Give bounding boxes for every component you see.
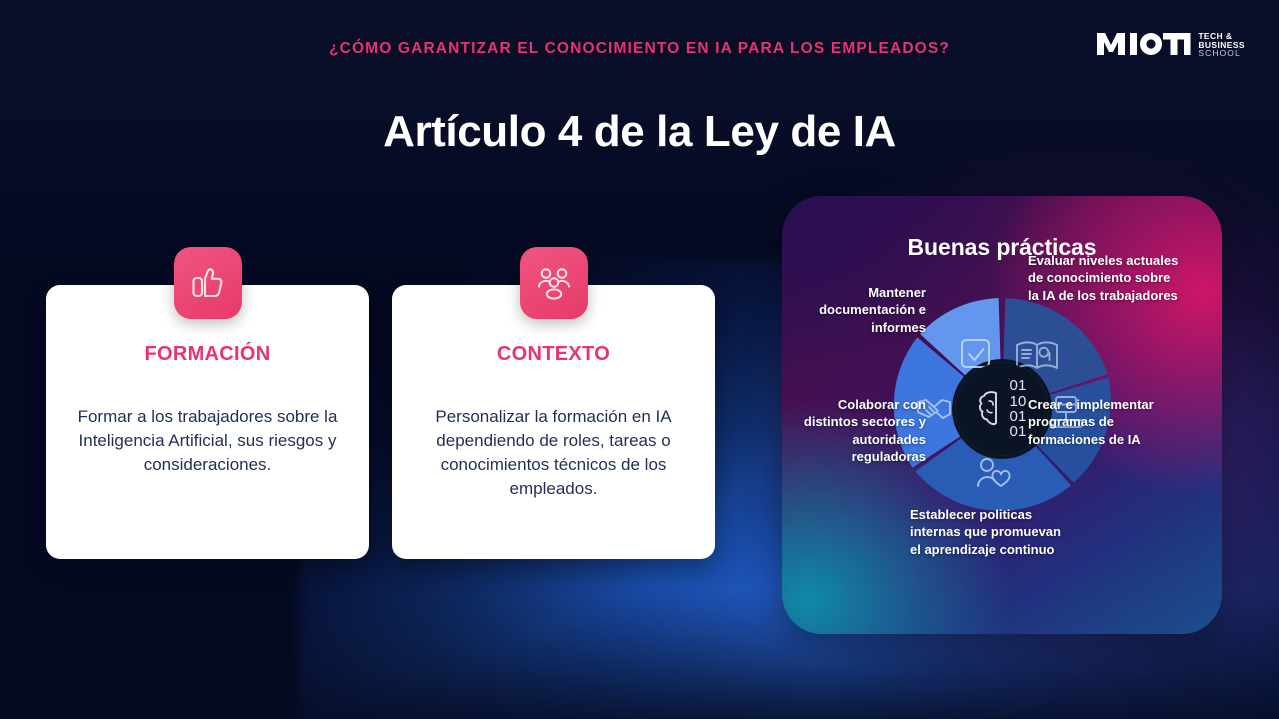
card-heading: CONTEXTO xyxy=(392,343,715,366)
card-formacion: FORMACIÓN Formar a los trabajadores sobr… xyxy=(46,285,369,559)
mioti-wordmark-icon xyxy=(1095,31,1191,57)
panel-label-colaborar: Colaborar con distintos sectores y autor… xyxy=(786,396,926,465)
page-title: Artículo 4 de la Ley de IA xyxy=(0,107,1279,157)
binary-line: 01 xyxy=(1010,424,1027,439)
panel-label-crear: Crear e implementar programas de formaci… xyxy=(1028,396,1178,448)
binary-line: 10 xyxy=(1010,394,1027,409)
panel-label-evaluar: Evaluar niveles actuales de conocimiento… xyxy=(1028,252,1180,304)
logo-line-3: SCHOOL xyxy=(1198,49,1245,58)
panel-label-mantener: Mantener documentación e informes xyxy=(790,284,926,336)
binary-line: 01 xyxy=(1010,409,1027,424)
brain-icon xyxy=(978,390,1008,428)
people-group-icon xyxy=(520,247,588,319)
card-heading: FORMACIÓN xyxy=(46,343,369,366)
slide-root: ¿CÓMO GARANTIZAR EL CONOCIMIENTO EN IA P… xyxy=(0,0,1279,719)
card-contexto: CONTEXTO Personalizar la formación en IA… xyxy=(392,285,715,559)
card-body: Personalizar la formación en IA dependie… xyxy=(416,405,691,501)
kicker-text: ¿CÓMO GARANTIZAR EL CONOCIMIENTO EN IA P… xyxy=(0,40,1279,58)
thumbs-up-icon xyxy=(174,247,242,319)
binary-digits: 01 10 01 01 xyxy=(1010,378,1027,439)
buenas-practicas-panel: Buenas prácticas xyxy=(782,196,1222,634)
mioti-logo: TECH & BUSINESS SCHOOL xyxy=(1095,31,1245,58)
panel-label-establecer: Establecer politicas internas que promue… xyxy=(910,506,1070,558)
mioti-logo-tagline: TECH & BUSINESS SCHOOL xyxy=(1198,31,1245,58)
binary-line: 01 xyxy=(1010,378,1027,393)
card-body: Formar a los trabajadores sobre la Intel… xyxy=(70,405,345,477)
